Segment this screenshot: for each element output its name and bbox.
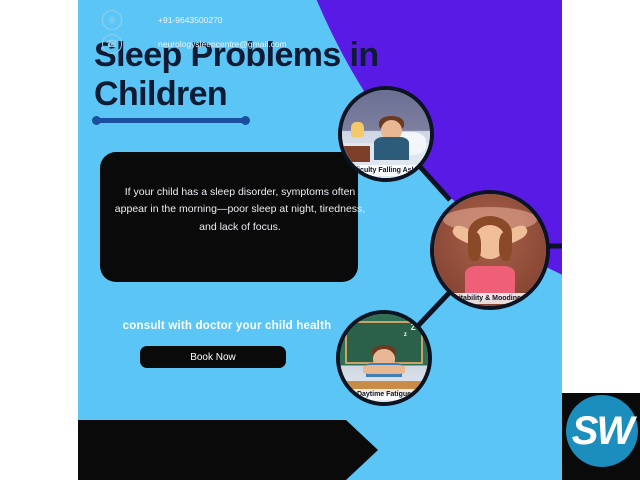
bubble-difficulty-falling-asleep[interactable]: Difficulty Falling Asleep: [338, 86, 434, 182]
email-address: neurologysleepcentre@gmail.com: [158, 39, 287, 49]
phone-number: +91-9643500270: [158, 15, 223, 25]
description-card: If your child has a sleep disorder, symp…: [100, 152, 358, 282]
bubble-irritability-moodiness[interactable]: Irritability & Moodiness: [430, 190, 550, 310]
poster-artboard: Sleep Problems in Children If your child…: [78, 0, 562, 480]
contact-email-row[interactable]: ☎ neurologysleepcentre@gmail.com: [102, 34, 287, 54]
sw-watermark-text: SW: [572, 409, 632, 454]
bubble-label: Irritability & Moodiness: [434, 293, 546, 304]
description-text: If your child has a sleep disorder, symp…: [110, 184, 370, 236]
cta-headline: consult with doctor your child health: [92, 320, 362, 332]
phone-icon: ☎: [102, 34, 122, 54]
globe-icon: ⊕: [102, 10, 122, 30]
contact-footer: [78, 420, 378, 480]
sw-watermark-logo[interactable]: SW: [566, 395, 638, 467]
title-underline-accent: [94, 118, 248, 123]
bubble-label: Difficulty Falling Asleep: [342, 165, 430, 176]
girl-holding-head-icon: [434, 194, 546, 306]
screenshot-canvas: Sleep Problems in Children If your child…: [0, 0, 640, 480]
bubble-label: Daytime Fatigue: [340, 389, 428, 400]
headline-line-2-wrapper: Children: [94, 75, 227, 114]
headline-line-2: Children: [94, 75, 227, 113]
contact-phone-row[interactable]: ⊕ +91-9643500270: [102, 10, 223, 30]
bubble-daytime-fatigue[interactable]: Zz Daytime Fatigue: [336, 310, 432, 406]
book-now-button[interactable]: Book Now: [140, 346, 286, 368]
